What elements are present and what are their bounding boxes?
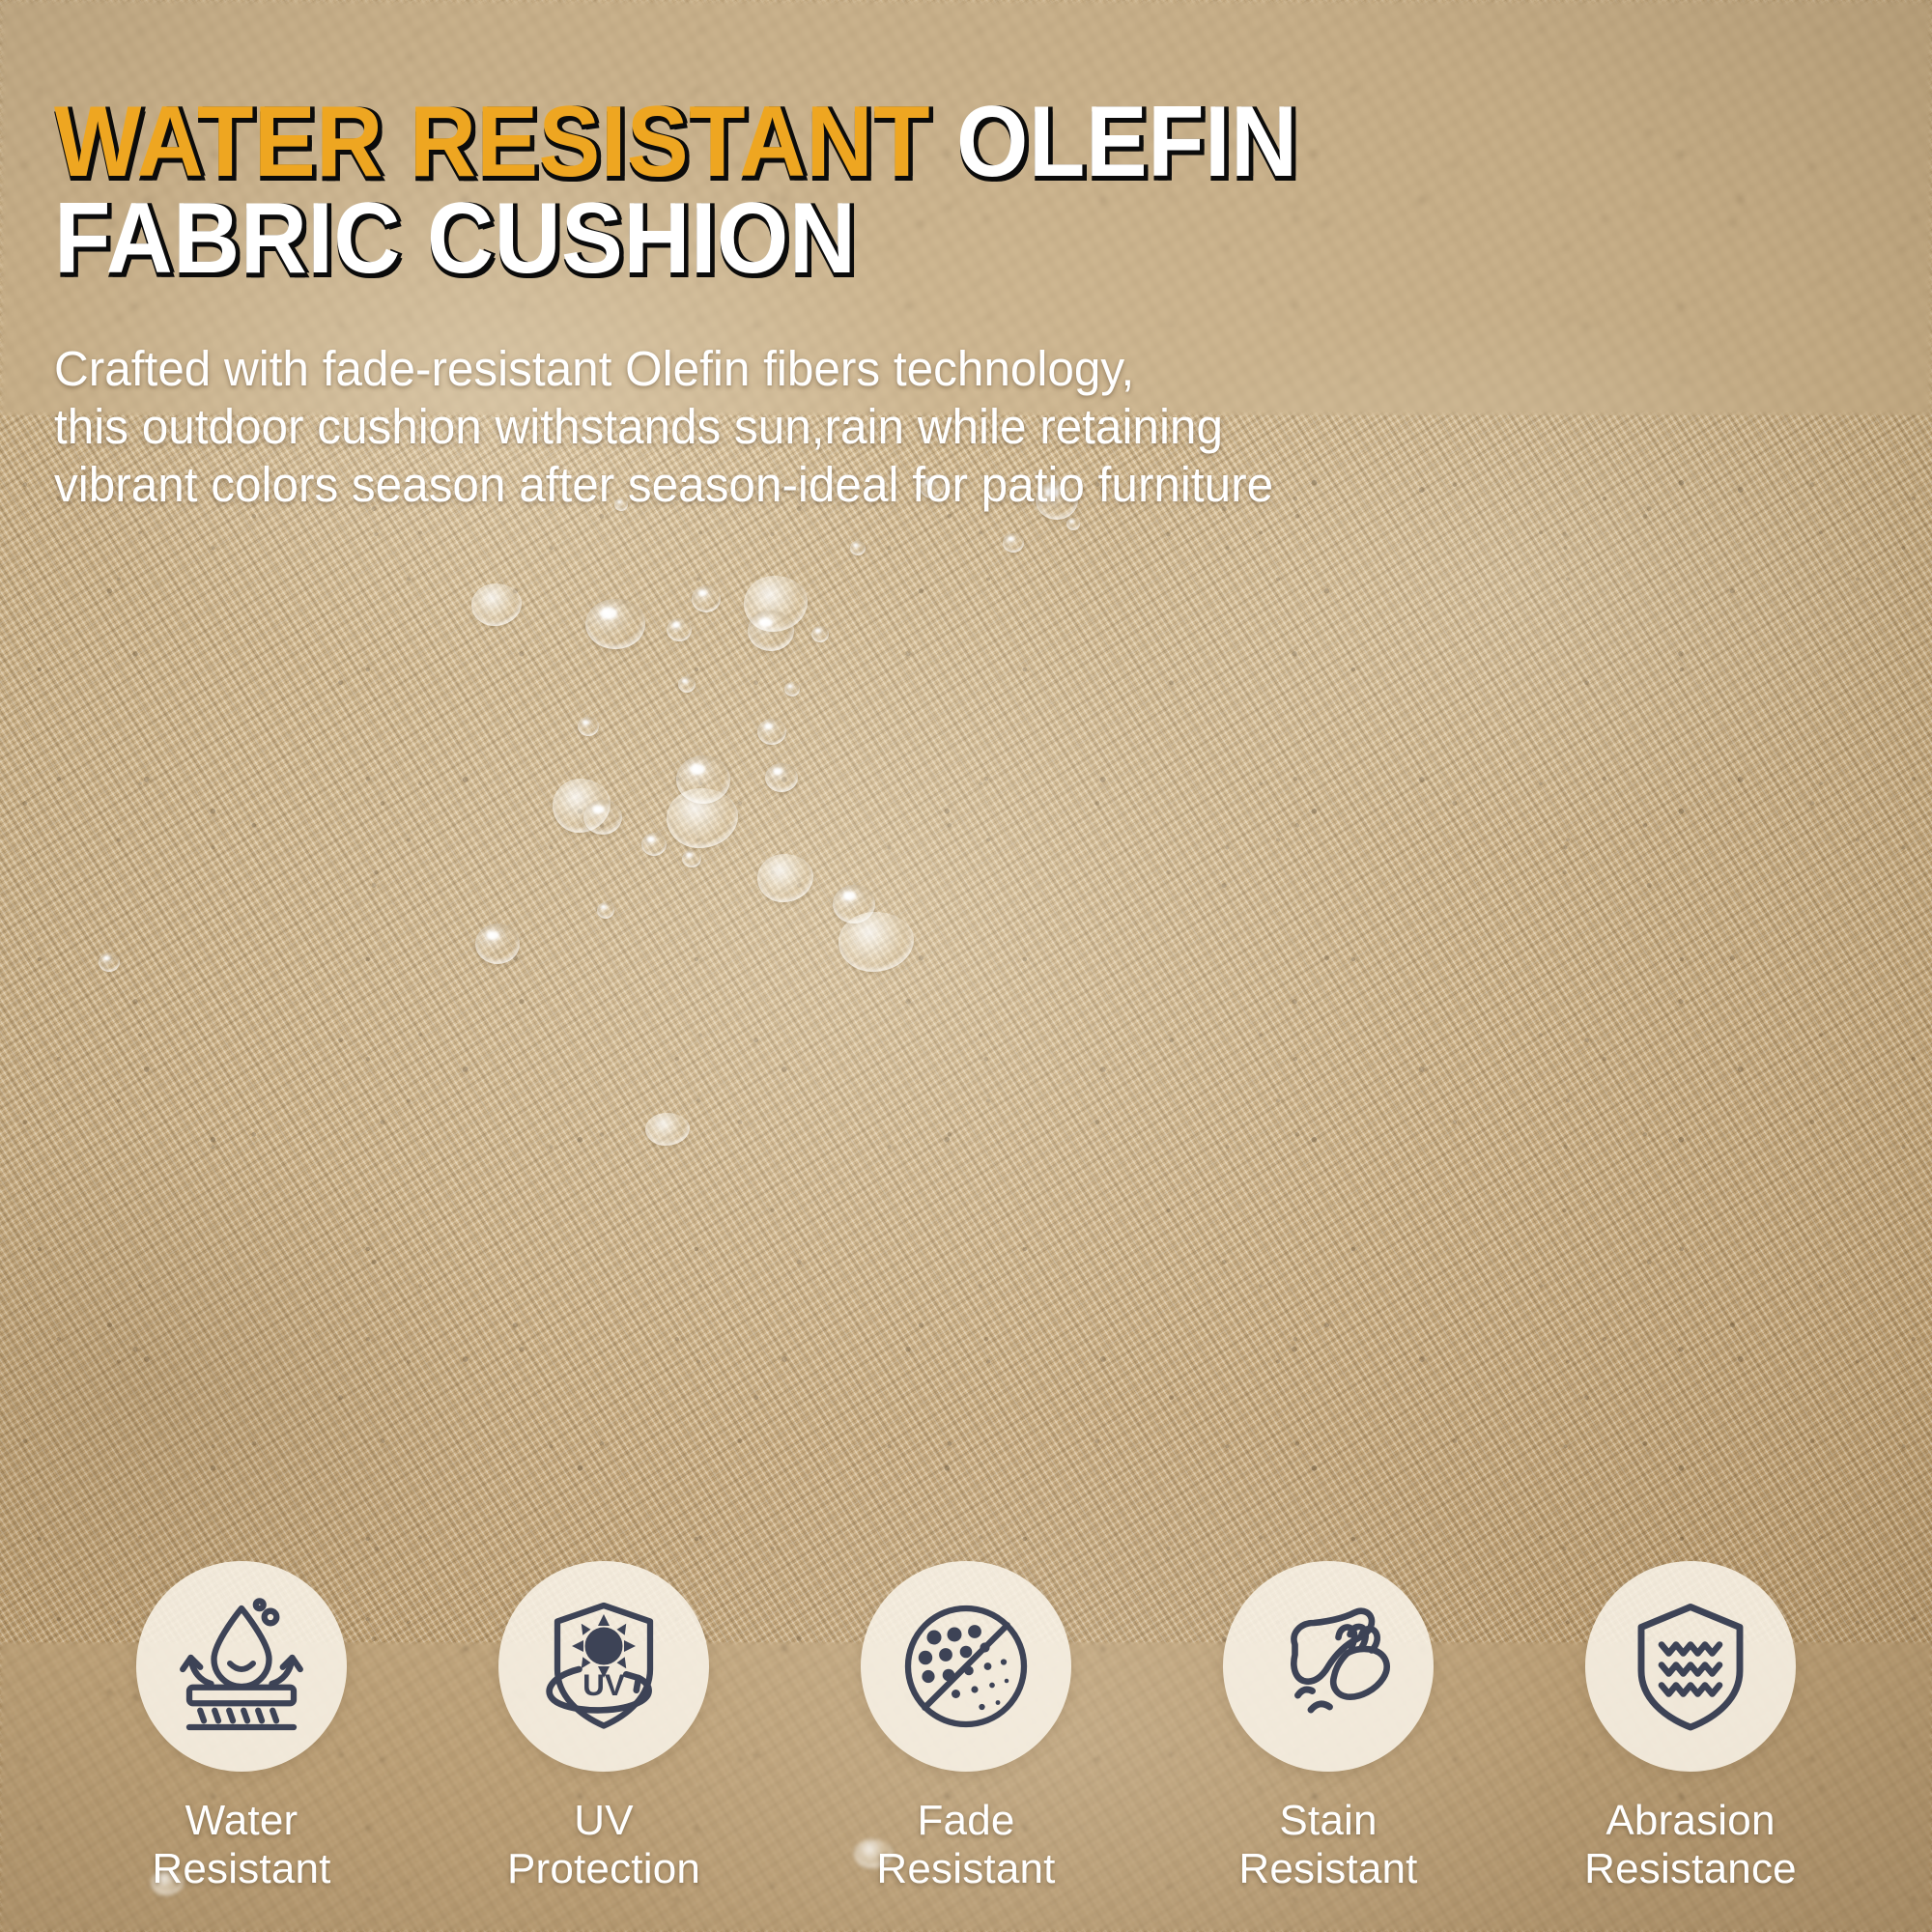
water-droplet — [850, 541, 866, 555]
description-line-2: this outdoor cushion withstands sun,rain… — [54, 398, 1516, 456]
description-block: Crafted with fade-resistant Olefin fiber… — [54, 340, 1516, 515]
water-droplet-splat — [838, 912, 914, 972]
water-droplet — [585, 599, 645, 649]
water-droplet-splat — [757, 854, 813, 902]
water-droplet — [765, 763, 798, 792]
water-droplet — [597, 902, 614, 919]
feature-item-abrasion-resistance: Abrasion Resistance — [1526, 1561, 1855, 1893]
feature-label-line-1: Abrasion — [1584, 1797, 1797, 1845]
water-droplet — [99, 952, 120, 972]
headline-line-2: FABRIC CUSHION — [54, 191, 1565, 288]
water-droplet — [678, 676, 696, 693]
feature-label: Water Resistant — [152, 1797, 330, 1893]
water-droplet — [692, 585, 721, 612]
water-droplet — [583, 800, 622, 835]
water-droplet-splat — [667, 788, 738, 848]
feature-strip: Water Resistant — [77, 1561, 1855, 1893]
feature-item-uv-protection: UV UV Protection — [440, 1561, 768, 1893]
feature-item-stain-resistant: Stain Resistant — [1164, 1561, 1492, 1893]
headline-block: WATER RESISTANT OLEFIN FABRIC CUSHION — [54, 95, 1696, 288]
water-droplet — [1066, 518, 1080, 530]
water-droplet — [578, 717, 599, 736]
feature-item-water-resistant: Water Resistant — [77, 1561, 406, 1893]
feature-icon-circle: UV — [498, 1561, 709, 1772]
uv-shield-sun-icon: UV — [531, 1594, 676, 1739]
water-droplet — [475, 923, 520, 964]
feature-label-line-2: Resistant — [1238, 1845, 1417, 1893]
feature-icon-circle — [861, 1561, 1071, 1772]
headline-line-1: WATER RESISTANT OLEFIN — [54, 95, 1565, 191]
feature-label-line-2: Protection — [507, 1845, 700, 1893]
description-line-3: vibrant colors season after season-ideal… — [54, 456, 1516, 514]
water-droplet — [757, 719, 786, 745]
feature-label-line-1: Water — [152, 1797, 330, 1845]
feature-label-line-2: Resistance — [1584, 1845, 1797, 1893]
feature-label: Abrasion Resistance — [1584, 1797, 1797, 1893]
feature-item-fade-resistant: Fade Resistant — [802, 1561, 1130, 1893]
no-fade-dots-icon — [894, 1594, 1038, 1739]
shield-zigzag-icon — [1618, 1594, 1763, 1739]
product-feature-banner: WATER RESISTANT OLEFIN FABRIC CUSHION Cr… — [0, 0, 1932, 1932]
water-droplet — [667, 618, 692, 641]
headline-white-text: OLEFIN — [956, 86, 1298, 198]
uv-icon-text: UV — [582, 1667, 625, 1702]
water-droplet-repel-icon — [169, 1594, 314, 1739]
water-droplet — [748, 611, 794, 651]
feature-label-line-1: Stain — [1238, 1797, 1417, 1845]
feature-label-line-2: Resistant — [876, 1845, 1055, 1893]
water-droplet — [1003, 533, 1024, 553]
water-droplet-splat — [645, 1113, 690, 1146]
water-droplet — [784, 682, 800, 696]
feature-label-line-2: Resistant — [152, 1845, 330, 1893]
feature-label-line-1: UV — [507, 1797, 700, 1845]
water-droplet — [811, 626, 829, 642]
feature-label-line-1: Fade — [876, 1797, 1055, 1845]
water-droplet — [641, 833, 667, 856]
feature-label: Stain Resistant — [1238, 1797, 1417, 1893]
feature-icon-circle — [1585, 1561, 1796, 1772]
water-droplet-splat — [471, 583, 522, 626]
description-line-1: Crafted with fade-resistant Olefin fiber… — [54, 340, 1516, 398]
feature-label: Fade Resistant — [876, 1797, 1055, 1893]
feature-icon-circle — [136, 1561, 347, 1772]
feature-icon-circle — [1223, 1561, 1434, 1772]
hand-wiping-cloth-icon — [1256, 1594, 1401, 1739]
water-droplet — [682, 850, 701, 867]
feature-label: UV Protection — [507, 1797, 700, 1893]
headline-accent-text: WATER RESISTANT — [54, 86, 930, 198]
